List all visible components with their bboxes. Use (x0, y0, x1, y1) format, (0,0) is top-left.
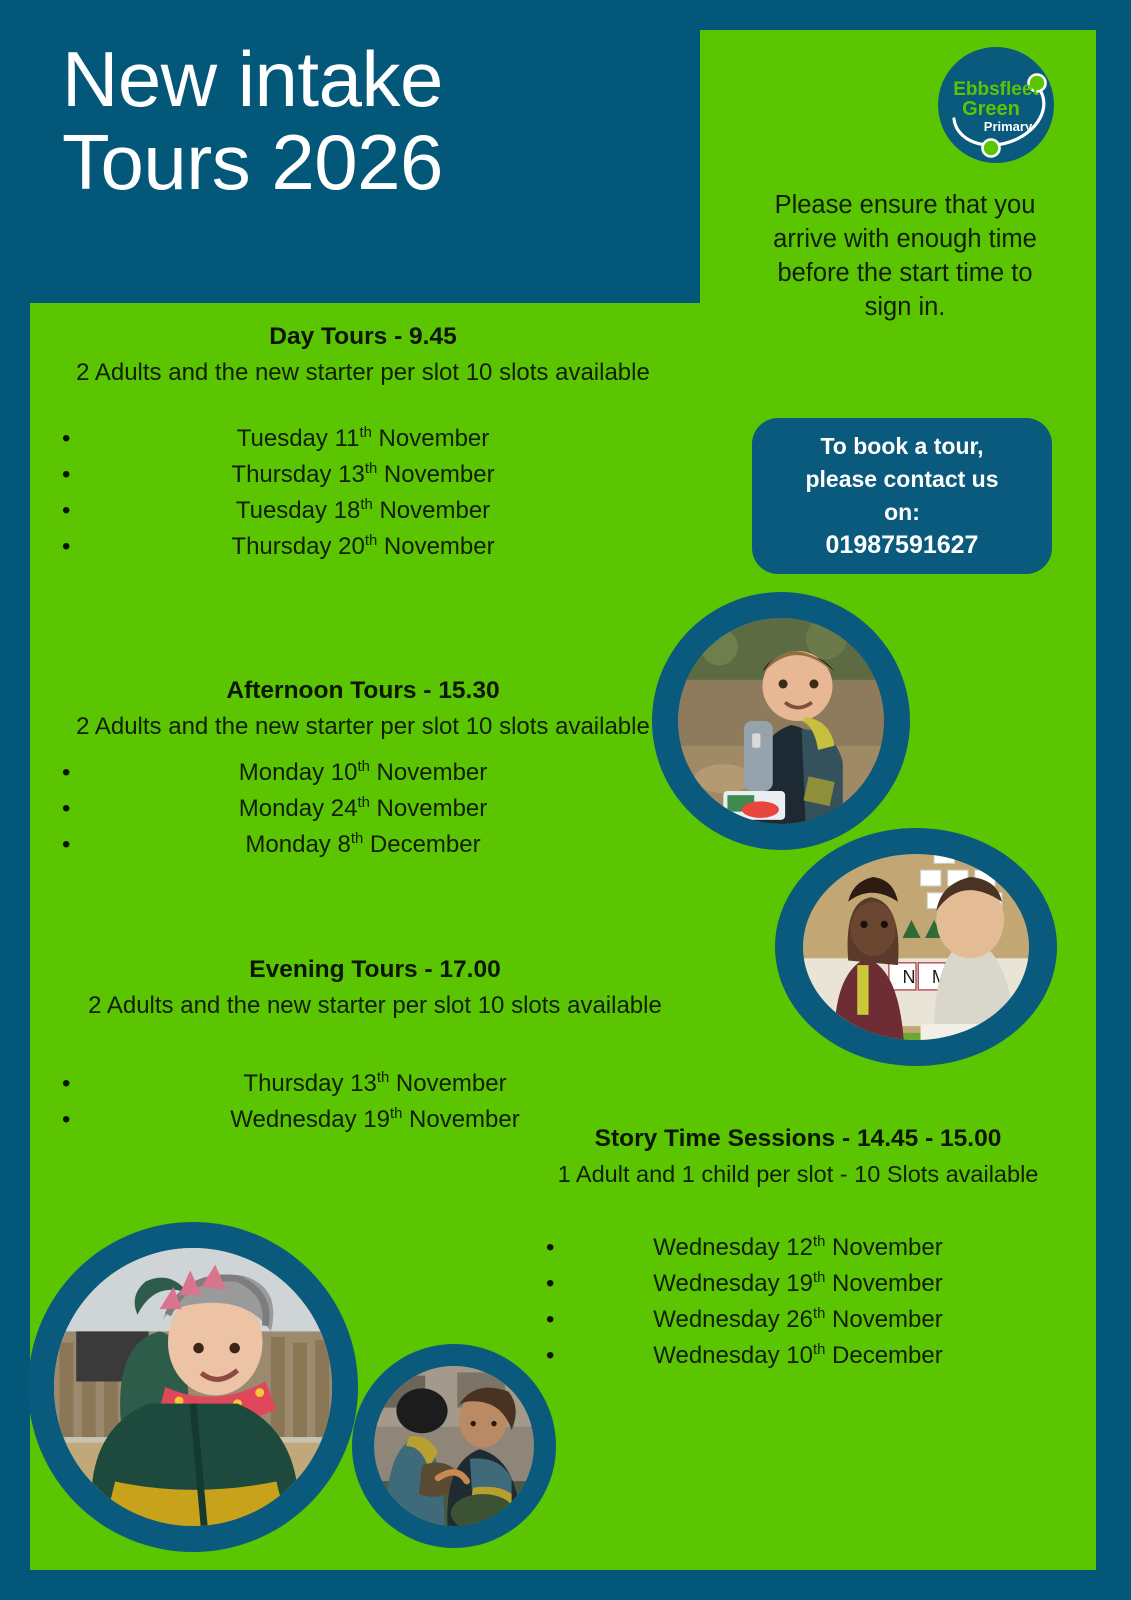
bullet-icon: • (62, 493, 70, 529)
session-date-list: •Tuesday 11th November•Thursday 13th Nov… (48, 421, 678, 565)
bullet-icon: • (62, 457, 70, 493)
session-date-label: Monday 24th November (239, 795, 488, 822)
session-subtitle: 1 Adult and 1 child per slot - 10 Slots … (508, 1159, 1088, 1190)
bullet-icon: • (62, 529, 70, 565)
session-date-label: Thursday 13th November (231, 461, 494, 488)
session-date-item: •Thursday 13th November (40, 1066, 710, 1102)
ordinal-suffix: th (365, 533, 377, 549)
session-subtitle: 2 Adults and the new starter per slot 10… (48, 711, 678, 743)
session-date-item: •Wednesday 12th November (508, 1230, 1088, 1266)
session-date-item: •Thursday 20th November (48, 529, 678, 565)
session-evening-tours: Evening Tours - 17.002 Adults and the ne… (40, 955, 710, 1138)
session-date-list: •Monday 10th November•Monday 24th Novemb… (48, 755, 678, 863)
session-date-item: •Wednesday 26th November (508, 1302, 1088, 1338)
session-heading: Afternoon Tours - 15.30 (48, 676, 678, 707)
session-date-item: •Tuesday 11th November (48, 421, 678, 457)
session-date-label: Wednesday 26th November (653, 1306, 942, 1333)
session-date-item: •Wednesday 10th December (508, 1338, 1088, 1374)
session-date-label: Tuesday 18th November (236, 497, 490, 524)
svg-text:N: N (902, 967, 915, 987)
ordinal-suffix: th (390, 1106, 402, 1122)
ordinal-suffix: th (813, 1234, 825, 1250)
bullet-icon: • (546, 1338, 554, 1374)
session-subtitle: 2 Adults and the new starter per slot 10… (40, 990, 710, 1022)
session-date-label: Monday 8th December (245, 831, 480, 858)
svg-text:Ebbsfleet: Ebbsfleet (953, 79, 1039, 100)
photo-teacher-and-child-classroom: N M n (775, 828, 1057, 1066)
ordinal-suffix: th (351, 831, 363, 847)
photo-child-in-winter-clothing-image (54, 1248, 332, 1526)
photo-children-outdoor-play-image (374, 1366, 534, 1526)
school-logo: Ebbsfleet Green Primary (936, 45, 1056, 165)
session-date-label: Thursday 20th November (231, 533, 494, 560)
ordinal-suffix: th (359, 425, 371, 441)
bullet-icon: • (62, 1102, 70, 1138)
contact-phone-number[interactable]: 01987591627 (826, 529, 979, 562)
photo-boy-outdoors-image (678, 618, 884, 824)
page-title: New intake Tours 2026 (62, 38, 662, 203)
ordinal-suffix: th (377, 1070, 389, 1086)
ordinal-suffix: th (813, 1306, 825, 1322)
session-heading: Story Time Sessions - 14.45 - 15.00 (508, 1124, 1088, 1155)
session-heading: Evening Tours - 17.00 (40, 955, 710, 986)
contact-line-1: To book a tour, (820, 430, 983, 463)
session-story-time: Story Time Sessions - 14.45 - 15.001 Adu… (508, 1124, 1088, 1374)
session-heading: Day Tours - 9.45 (48, 322, 678, 353)
session-date-item: •Monday 24th November (48, 791, 678, 827)
svg-text:Green: Green (962, 98, 1020, 120)
arrival-notice: Please ensure that you arrive with enoug… (757, 188, 1053, 325)
ordinal-suffix: th (360, 497, 372, 513)
session-date-label: Wednesday 12th November (653, 1234, 942, 1261)
bullet-icon: • (62, 827, 70, 863)
bullet-icon: • (62, 1066, 70, 1102)
bullet-icon: • (546, 1302, 554, 1338)
photo-child-in-winter-clothing (28, 1222, 358, 1552)
bullet-icon: • (62, 755, 70, 791)
session-date-item: •Wednesday 19th November (508, 1266, 1088, 1302)
session-date-label: Thursday 13th November (243, 1070, 506, 1097)
svg-text:Primary: Primary (984, 119, 1033, 134)
contact-line-3: on: (884, 496, 920, 529)
ordinal-suffix: th (357, 795, 369, 811)
ebbsfleet-green-primary-logo-icon: Ebbsfleet Green Primary (936, 45, 1056, 165)
session-date-label: Wednesday 19th November (230, 1106, 519, 1133)
bullet-icon: • (62, 421, 70, 457)
poster-canvas: New intake Tours 2026 Ebbsfleet Green Pr… (0, 0, 1131, 1600)
contact-line-2: please contact us (805, 463, 998, 496)
session-day-tours: Day Tours - 9.452 Adults and the new sta… (48, 322, 678, 565)
session-date-item: •Tuesday 18th November (48, 493, 678, 529)
session-date-item: •Thursday 13th November (48, 457, 678, 493)
bullet-icon: • (62, 791, 70, 827)
contact-box[interactable]: To book a tour, please contact us on: 01… (752, 418, 1052, 574)
bullet-icon: • (546, 1230, 554, 1266)
session-date-list: •Wednesday 12th November•Wednesday 19th … (508, 1230, 1088, 1374)
session-date-item: •Monday 10th November (48, 755, 678, 791)
session-subtitle: 2 Adults and the new starter per slot 10… (48, 357, 678, 389)
session-date-label: Wednesday 10th December (653, 1342, 942, 1369)
session-date-label: Tuesday 11th November (237, 425, 490, 452)
session-afternoon-tours: Afternoon Tours - 15.302 Adults and the … (48, 676, 678, 863)
ordinal-suffix: th (813, 1342, 825, 1358)
title-banner: New intake Tours 2026 (0, 0, 700, 296)
photo-boy-outdoors (652, 592, 910, 850)
session-date-label: Wednesday 19th November (653, 1270, 942, 1297)
ordinal-suffix: th (813, 1270, 825, 1286)
bullet-icon: • (546, 1266, 554, 1302)
ordinal-suffix: th (365, 461, 377, 477)
session-date-label: Monday 10th November (239, 759, 488, 786)
photo-children-outdoor-play (352, 1344, 556, 1548)
ordinal-suffix: th (357, 759, 369, 775)
session-date-item: •Monday 8th December (48, 827, 678, 863)
photo-teacher-and-child-classroom-image: N M n (803, 854, 1029, 1040)
